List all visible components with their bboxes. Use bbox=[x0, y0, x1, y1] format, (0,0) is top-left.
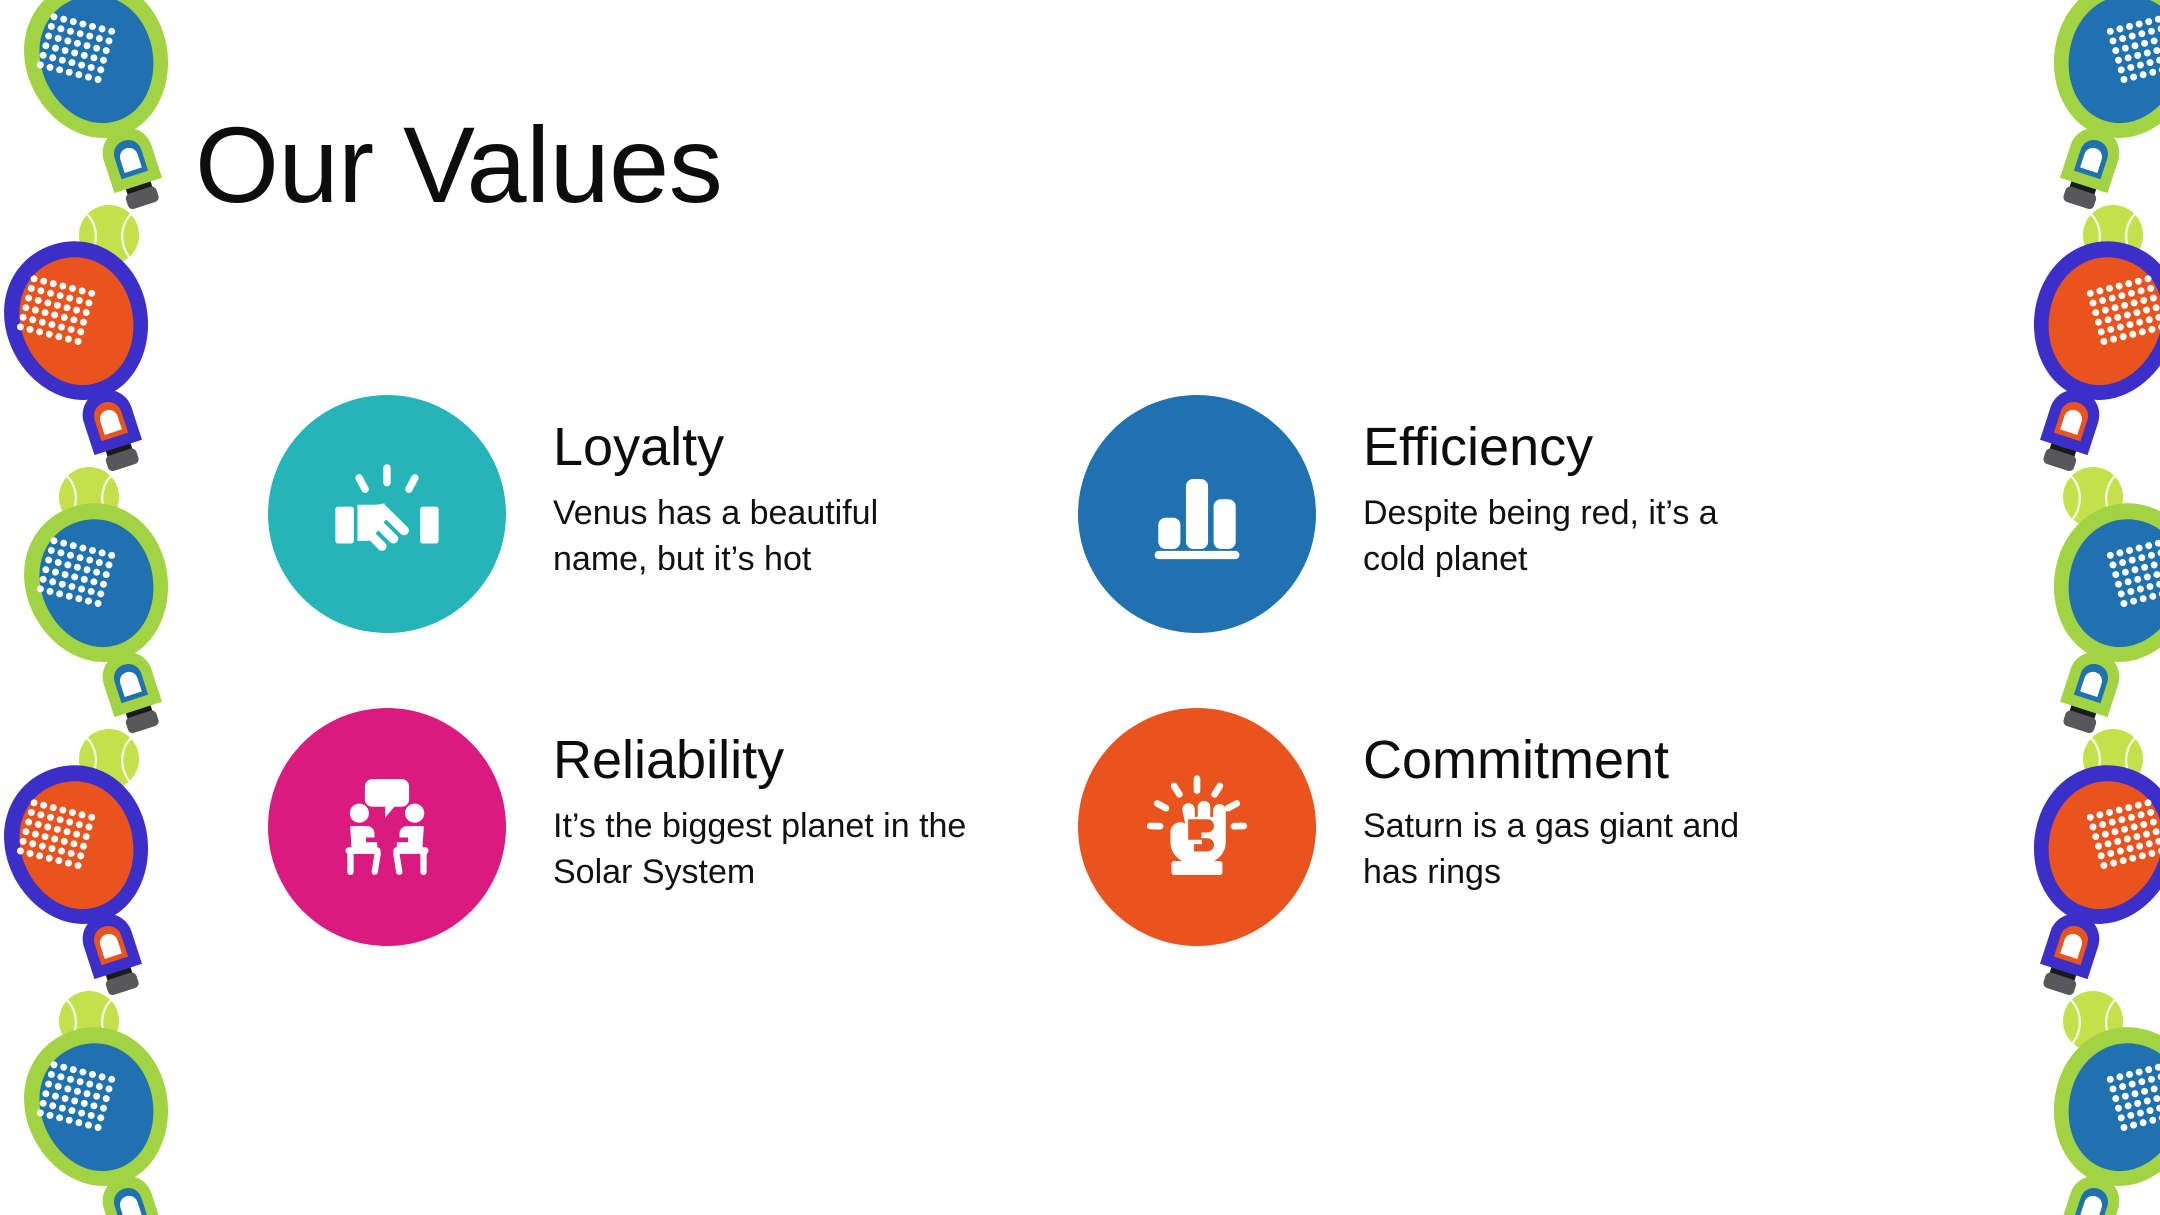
value-title: Commitment bbox=[1363, 730, 1803, 790]
handshake-icon bbox=[328, 455, 446, 573]
tennis-ball-icon bbox=[78, 204, 140, 266]
tennis-ball-icon bbox=[2062, 466, 2124, 528]
decoration-unit-right-2 bbox=[1956, 234, 2160, 564]
decoration-unit-left-4 bbox=[0, 758, 226, 1088]
decoration-unit-left-5 bbox=[16, 1020, 246, 1215]
decoration-unit-right-4 bbox=[1956, 758, 2160, 1088]
decoration-unit-left-2 bbox=[0, 234, 226, 564]
value-card-commitment[interactable]: Commitment Saturn is a gas giant and has… bbox=[1078, 708, 1888, 946]
value-text-commitment: Commitment Saturn is a gas giant and has… bbox=[1316, 708, 1803, 895]
value-card-loyalty[interactable]: Loyalty Venus has a beautiful name, but … bbox=[268, 395, 1078, 633]
tennis-ball-icon bbox=[2082, 204, 2144, 266]
value-text-reliability: Reliability It’s the biggest planet in t… bbox=[506, 708, 993, 895]
tennis-ball-icon bbox=[78, 728, 140, 790]
value-title: Reliability bbox=[553, 730, 993, 790]
padel-racket-icon bbox=[2011, 758, 2160, 1008]
padel-racket-icon bbox=[0, 234, 171, 484]
tennis-ball-icon bbox=[58, 990, 120, 1052]
tennis-ball-icon bbox=[2062, 990, 2124, 1052]
padel-racket-icon bbox=[2011, 234, 2160, 484]
value-icon-circle-reliability bbox=[268, 708, 506, 946]
raised-fist-icon bbox=[1138, 768, 1256, 886]
value-icon-circle-commitment bbox=[1078, 708, 1316, 946]
padel-racket-icon bbox=[16, 1020, 191, 1215]
padel-racket-icon bbox=[16, 0, 191, 222]
values-row: Reliability It’s the biggest planet in t… bbox=[268, 708, 1888, 946]
values-row: Loyalty Venus has a beautiful name, but … bbox=[268, 395, 1888, 633]
value-text-loyalty: Loyalty Venus has a beautiful name, but … bbox=[506, 395, 973, 582]
values-grid: Loyalty Venus has a beautiful name, but … bbox=[268, 395, 1888, 946]
tennis-ball-icon bbox=[58, 466, 120, 528]
value-card-reliability[interactable]: Reliability It’s the biggest planet in t… bbox=[268, 708, 1078, 946]
value-text-efficiency: Efficiency Despite being red, it’s a col… bbox=[1316, 395, 1783, 582]
value-icon-circle-loyalty bbox=[268, 395, 506, 633]
decoration-column-right bbox=[1930, 0, 2160, 1215]
decoration-unit-right-5 bbox=[1976, 1020, 2160, 1215]
slide-canvas: Our Values bbox=[0, 0, 2160, 1215]
value-description: Saturn is a gas giant and has rings bbox=[1363, 804, 1803, 894]
value-description: Venus has a beautiful name, but it’s hot bbox=[553, 491, 973, 581]
tennis-ball-icon bbox=[2082, 728, 2144, 790]
decoration-unit-right-1 bbox=[1976, 0, 2160, 302]
value-title: Efficiency bbox=[1363, 417, 1783, 477]
people-talking-icon bbox=[328, 768, 446, 886]
value-title: Loyalty bbox=[553, 417, 973, 477]
padel-racket-icon bbox=[16, 496, 191, 746]
value-description: Despite being red, it’s a cold planet bbox=[1363, 491, 1783, 581]
value-icon-circle-efficiency bbox=[1078, 395, 1316, 633]
value-card-efficiency[interactable]: Efficiency Despite being red, it’s a col… bbox=[1078, 395, 1888, 633]
bar-chart-icon bbox=[1138, 455, 1256, 573]
padel-racket-icon bbox=[2031, 0, 2160, 222]
value-description: It’s the biggest planet in the Solar Sys… bbox=[553, 804, 993, 894]
padel-racket-icon bbox=[2031, 496, 2160, 746]
page-title: Our Values bbox=[195, 108, 722, 221]
padel-racket-icon bbox=[0, 758, 171, 1008]
decoration-unit-right-3 bbox=[1976, 496, 2160, 826]
padel-racket-icon bbox=[2031, 1020, 2160, 1215]
decoration-unit-left-3 bbox=[16, 496, 246, 826]
